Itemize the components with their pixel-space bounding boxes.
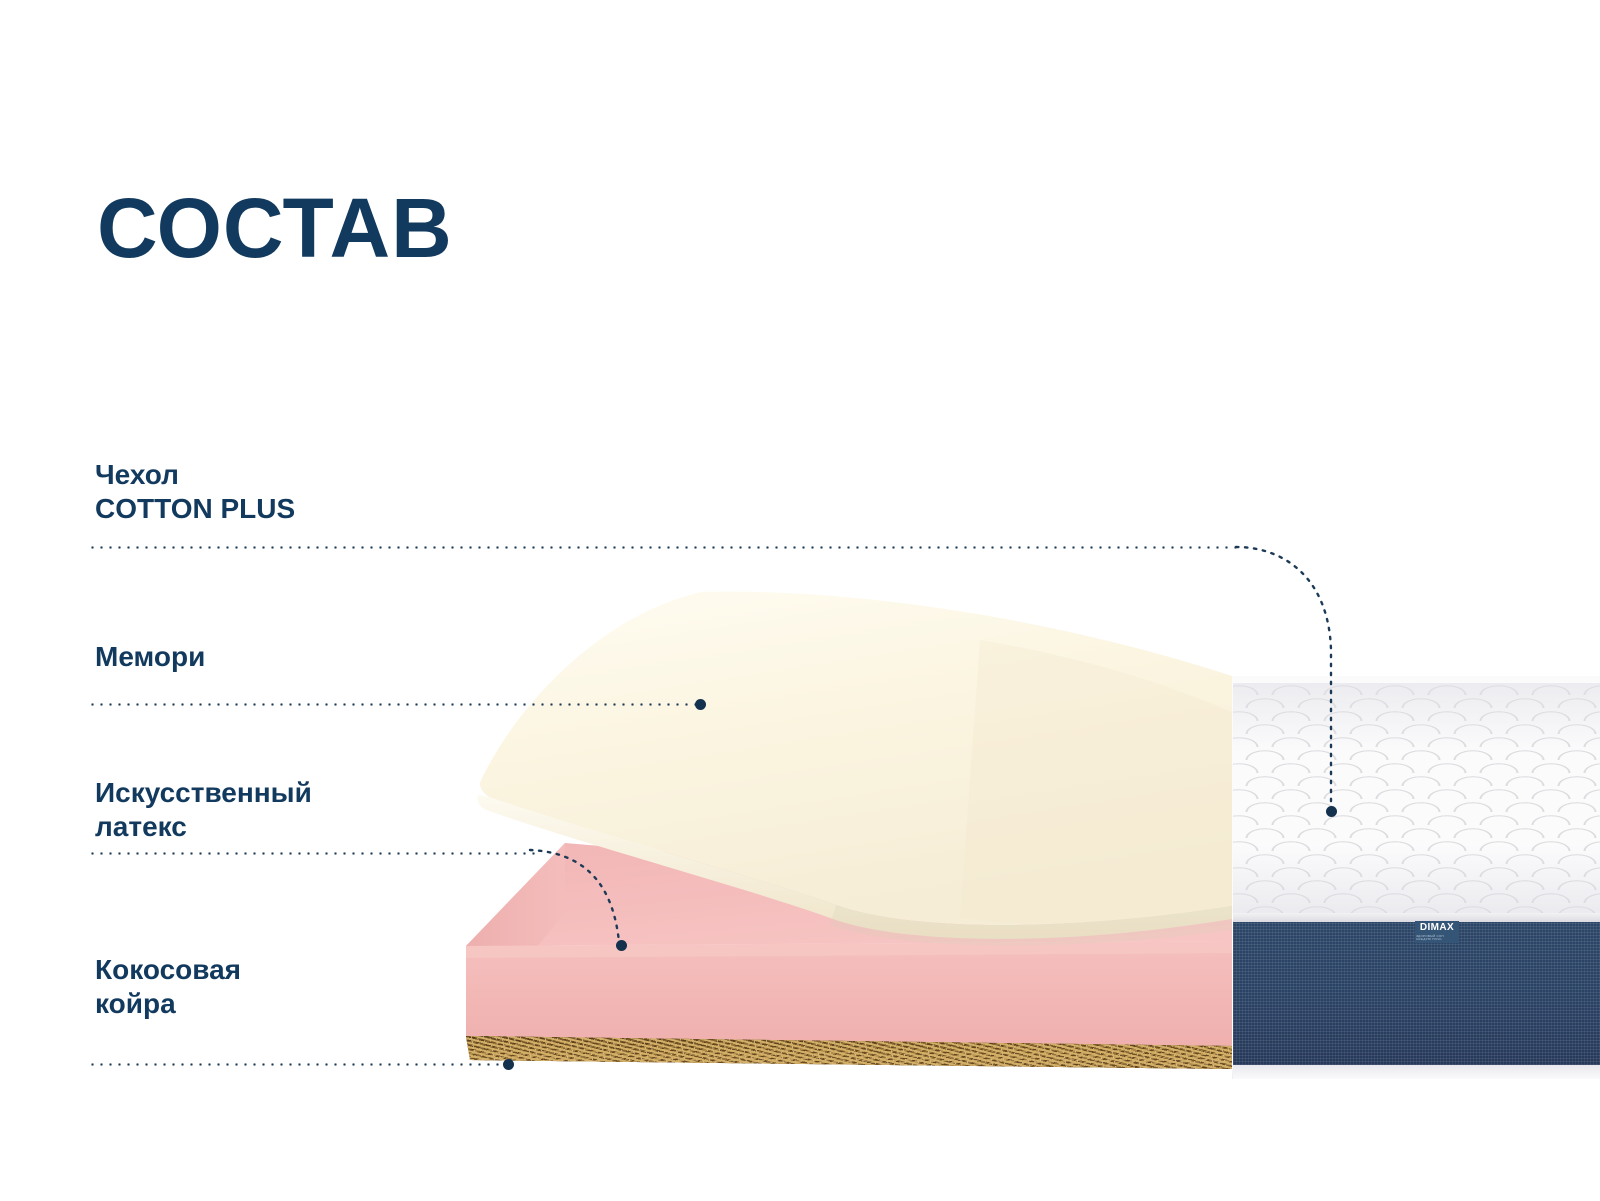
dimax-brand-label: DIMAX ЗДОРОВЫЙ СОН КАЖДУЮ НОЧЬ xyxy=(1415,921,1459,943)
mattress-base-trim xyxy=(1233,1065,1600,1079)
page-title: СОСТАВ xyxy=(97,186,453,270)
leader-line-memory xyxy=(88,703,696,706)
quilted-cover-pattern xyxy=(1233,683,1600,915)
layer-label-memory: Мемори xyxy=(95,640,205,674)
brand-name-text: DIMAX xyxy=(1420,923,1454,933)
leader-endpoint-cover xyxy=(1326,806,1337,817)
brand-tagline-text: ЗДОРОВЫЙ СОН КАЖДУЮ НОЧЬ xyxy=(1416,935,1458,941)
leader-line-cover xyxy=(88,546,1240,549)
layer-label-cover: Чехол COTTON PLUS xyxy=(95,458,295,526)
leader-endpoint-coir xyxy=(503,1059,514,1070)
infographic-slide: DIMAX ЗДОРОВЫЙ СОН КАЖДУЮ НОЧЬ СОСТАВ Че… xyxy=(0,0,1600,1201)
layer-label-coir: Кокосовая койра xyxy=(95,953,241,1021)
mattress-side-panel xyxy=(1233,922,1600,1065)
leader-line-coir xyxy=(88,1063,500,1066)
layer-label-latex: Искусственный латекс xyxy=(95,776,312,844)
leader-endpoint-latex xyxy=(616,940,627,951)
leader-line-latex xyxy=(88,852,535,855)
leader-endpoint-memory xyxy=(695,699,706,710)
